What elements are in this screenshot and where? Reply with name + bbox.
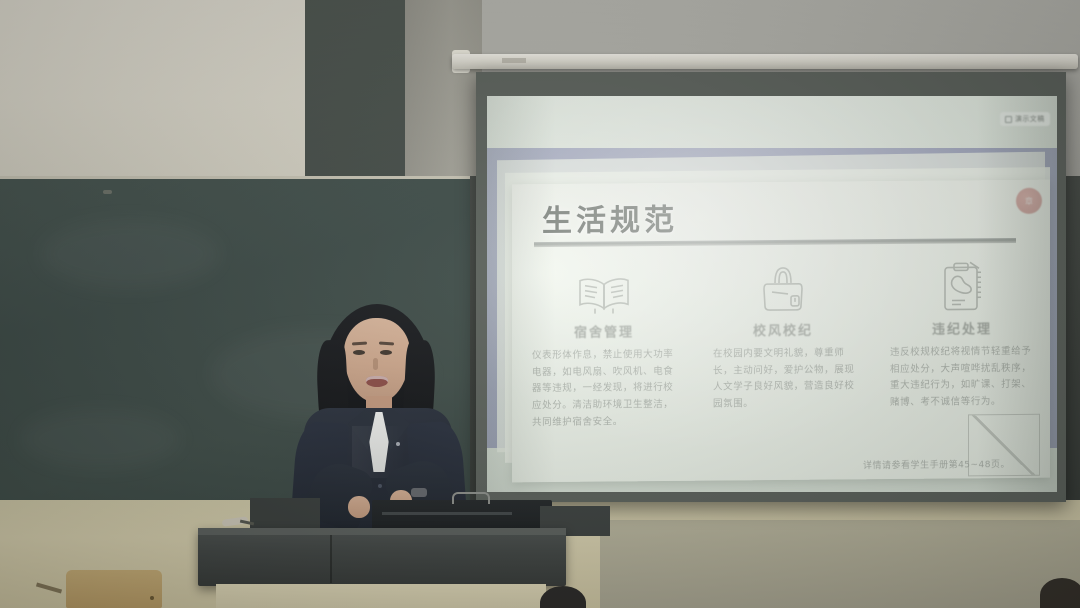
audience-head xyxy=(1040,578,1080,608)
projector-screen-roller xyxy=(452,54,1078,69)
slide-column-heading: 违纪处理 xyxy=(886,318,1038,338)
lectern xyxy=(198,528,566,586)
laptop-handle xyxy=(452,492,490,504)
watermark-label: 演示文稿 xyxy=(1015,114,1045,124)
laptop-hinge-line xyxy=(382,512,512,515)
wristwatch xyxy=(411,488,427,497)
slide-column-school-ethos: 校风校纪 在校园内要文明礼貌，尊重师长，主动问好，爱护公物，展现人文学子良好风貌… xyxy=(707,251,859,474)
roller-brand-mark xyxy=(502,58,526,63)
document-icon: 演示文稿 xyxy=(1000,112,1050,126)
wall-column-light xyxy=(404,0,482,186)
presenter-jacket-button xyxy=(378,484,382,488)
slide-column-body: 在校园内要文明礼貌，尊重师长，主动问好，爱护公物，展现人文学子良好风貌，营造良好… xyxy=(707,345,859,413)
wooden-chair xyxy=(66,570,162,608)
stamp-icon: 章 xyxy=(1016,188,1042,214)
slide-column-body: 违反校规校纪将视情节轻重给予相应处分，大声喧哗扰乱秩序，重大违纪行为，如旷课、打… xyxy=(886,344,1038,412)
lectern-base xyxy=(216,584,546,608)
slide-column-heading: 宿舍管理 xyxy=(528,321,680,341)
lectern-top-edge xyxy=(198,528,566,535)
open-book-icon xyxy=(528,253,680,316)
classroom-scene: 生活规范 章 宿舍管理 仪表形体作息，禁止使用 xyxy=(0,0,1080,608)
presenter-lapel-pin xyxy=(396,442,400,446)
presenter-nose xyxy=(373,358,378,370)
presenter-hand-left xyxy=(348,496,370,518)
wall-column-dark xyxy=(305,0,405,186)
chalk-piece xyxy=(103,190,112,194)
lower-wall-right-warm xyxy=(600,520,1080,608)
clipboard-icon xyxy=(886,250,1038,313)
presenter-eye-left xyxy=(353,350,365,355)
presenter xyxy=(286,296,468,526)
presenter-eye-right xyxy=(380,350,392,355)
stamp-icon-label: 章 xyxy=(1025,195,1033,206)
page-corner-fold xyxy=(968,414,1040,477)
slide-column-heading: 校风校纪 xyxy=(707,319,859,339)
lectern-panel-seam xyxy=(330,535,332,583)
presenter-mouth xyxy=(366,376,388,387)
slide-column-dormitory: 宿舍管理 仪表形体作息，禁止使用大功率电器，如电风扇、吹风机、电食器等违规，一经… xyxy=(528,253,680,476)
slide-column-body: 仪表形体作息，禁止使用大功率电器，如电风扇、吹风机、电食器等违规，一经发现，将进… xyxy=(528,347,680,431)
slide-title: 生活规范 xyxy=(542,195,678,240)
handbag-icon xyxy=(707,251,859,314)
slide-content: 生活规范 章 宿舍管理 仪表形体作息，禁止使用 xyxy=(512,180,1050,483)
slide-columns: 宿舍管理 仪表形体作息，禁止使用大功率电器，如电风扇、吹风机、电食器等违规，一经… xyxy=(528,250,1038,476)
document-icon-glyph xyxy=(1005,116,1012,123)
chair-fastener xyxy=(150,596,154,600)
